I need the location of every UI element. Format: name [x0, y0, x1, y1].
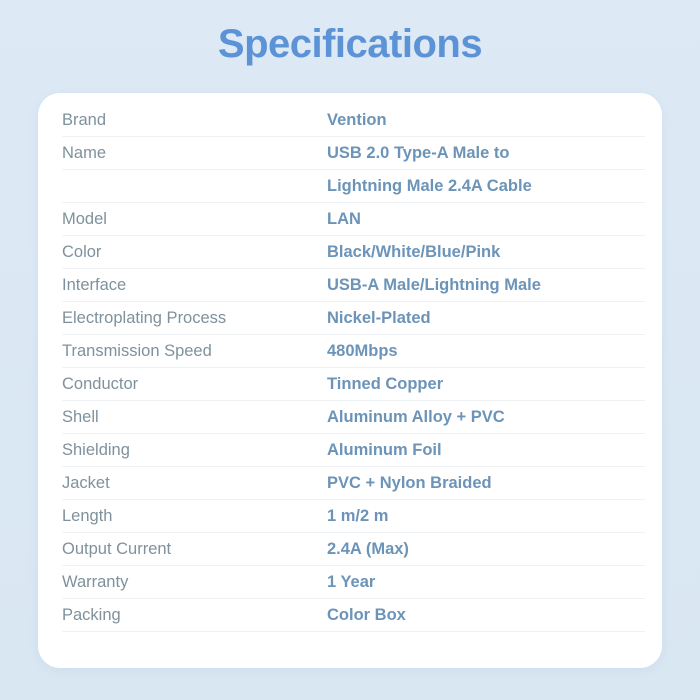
spec-label: Jacket: [62, 475, 327, 492]
spec-label: Interface: [62, 277, 327, 294]
table-row: Length1 m/2 m: [62, 500, 645, 533]
table-row: PackingColor Box: [62, 599, 645, 632]
spec-value: USB-A Male/Lightning Male: [327, 277, 645, 294]
spec-label: Brand: [62, 112, 327, 129]
table-row: Warranty1 Year: [62, 566, 645, 599]
spec-label: Transmission Speed: [62, 343, 327, 360]
spec-value: Vention: [327, 112, 645, 129]
spec-value: Black/White/Blue/Pink: [327, 244, 645, 261]
spec-label: Electroplating Process: [62, 310, 327, 327]
spec-value: LAN: [327, 211, 645, 228]
table-row: Lightning Male 2.4A Cable: [62, 170, 645, 203]
spec-value: Tinned Copper: [327, 376, 645, 393]
spec-label: Output Current: [62, 541, 327, 558]
spec-value: Color Box: [327, 607, 645, 624]
table-row: NameUSB 2.0 Type-A Male to: [62, 137, 645, 170]
page-title: Specifications: [0, 0, 700, 66]
spec-value: USB 2.0 Type-A Male to: [327, 145, 645, 162]
specifications-table: BrandVentionNameUSB 2.0 Type-A Male toLi…: [62, 104, 645, 632]
spec-value: Nickel-Plated: [327, 310, 645, 327]
table-row: ConductorTinned Copper: [62, 368, 645, 401]
table-row: ShieldingAluminum Foil: [62, 434, 645, 467]
spec-label: Conductor: [62, 376, 327, 393]
table-row: Transmission Speed480Mbps: [62, 335, 645, 368]
table-row: ColorBlack/White/Blue/Pink: [62, 236, 645, 269]
spec-label: Model: [62, 211, 327, 228]
table-row: Output Current2.4A (Max): [62, 533, 645, 566]
table-row: JacketPVC + Nylon Braided: [62, 467, 645, 500]
table-row: InterfaceUSB-A Male/Lightning Male: [62, 269, 645, 302]
spec-value: Lightning Male 2.4A Cable: [327, 178, 645, 195]
table-row: ShellAluminum Alloy + PVC: [62, 401, 645, 434]
spec-label: Packing: [62, 607, 327, 624]
spec-value: Aluminum Alloy + PVC: [327, 409, 645, 426]
spec-label: Name: [62, 145, 327, 162]
spec-value: PVC + Nylon Braided: [327, 475, 645, 492]
spec-value: 1 Year: [327, 574, 645, 591]
specifications-page: Specifications BrandVentionNameUSB 2.0 T…: [0, 0, 700, 700]
specifications-card: BrandVentionNameUSB 2.0 Type-A Male toLi…: [38, 93, 662, 668]
spec-value: 480Mbps: [327, 343, 645, 360]
spec-label: Shielding: [62, 442, 327, 459]
spec-value: Aluminum Foil: [327, 442, 645, 459]
table-row: Electroplating ProcessNickel-Plated: [62, 302, 645, 335]
spec-label: Shell: [62, 409, 327, 426]
spec-label: Color: [62, 244, 327, 261]
spec-label: Warranty: [62, 574, 327, 591]
table-row: BrandVention: [62, 104, 645, 137]
spec-value: 2.4A (Max): [327, 541, 645, 558]
spec-value: 1 m/2 m: [327, 508, 645, 525]
table-row: ModelLAN: [62, 203, 645, 236]
spec-label: Length: [62, 508, 327, 525]
